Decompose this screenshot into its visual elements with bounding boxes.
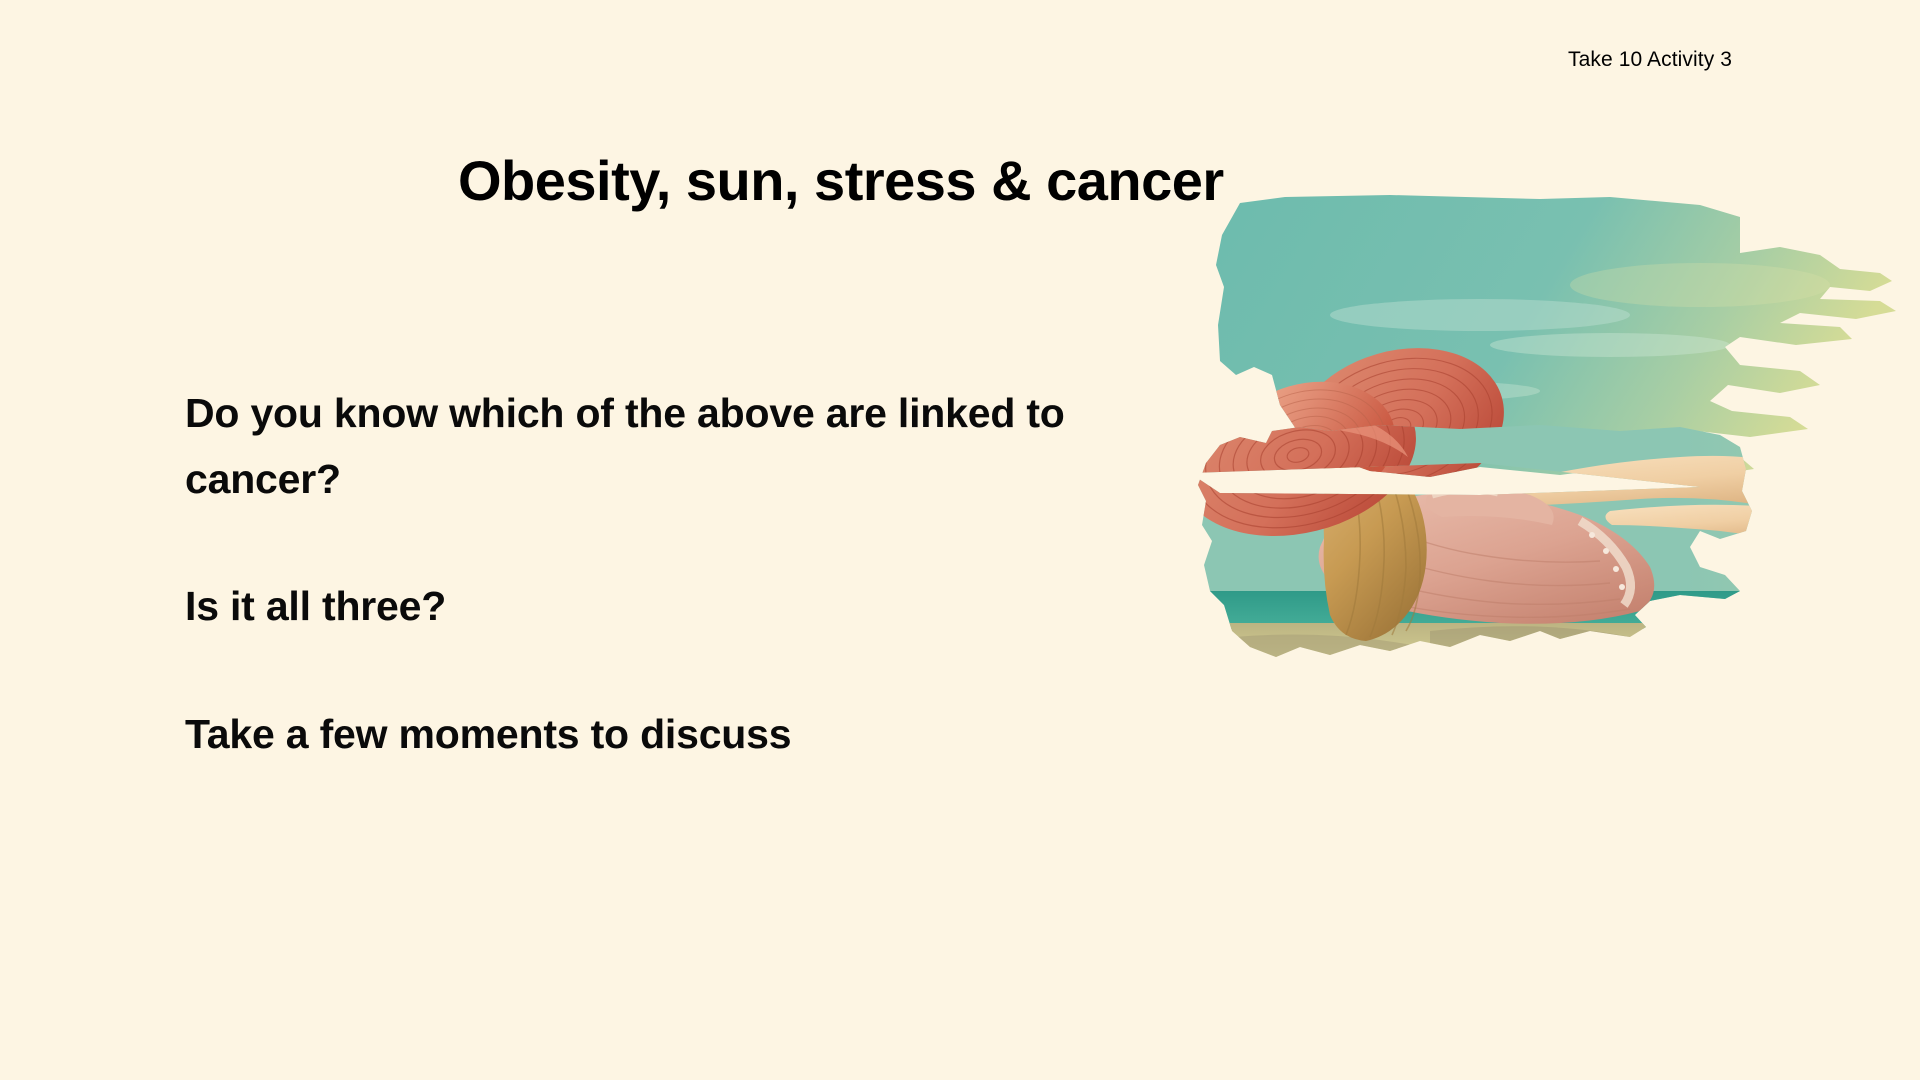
page-title: Obesity, sun, stress & cancer xyxy=(458,148,1224,213)
beach-photo-artwork xyxy=(1180,195,1900,735)
cloud-wisp xyxy=(1330,299,1630,331)
cloud-wisp xyxy=(1570,263,1830,307)
beach-photo-svg xyxy=(1180,195,1900,735)
slide-header-label: Take 10 Activity 3 xyxy=(1568,48,1732,72)
cloud-wisp xyxy=(1490,333,1730,357)
artwork-top-band xyxy=(1180,195,1900,530)
body-paragraph-question: Do you know which of the above are linke… xyxy=(185,381,1085,512)
slide-canvas: Take 10 Activity 3 Obesity, sun, stress … xyxy=(0,0,1920,1080)
body-paragraph-followup: Is it all three? xyxy=(185,574,1085,640)
body-copy: Do you know which of the above are linke… xyxy=(185,340,1085,808)
body-paragraph-instruction: Take a few moments to discuss xyxy=(185,702,1085,768)
